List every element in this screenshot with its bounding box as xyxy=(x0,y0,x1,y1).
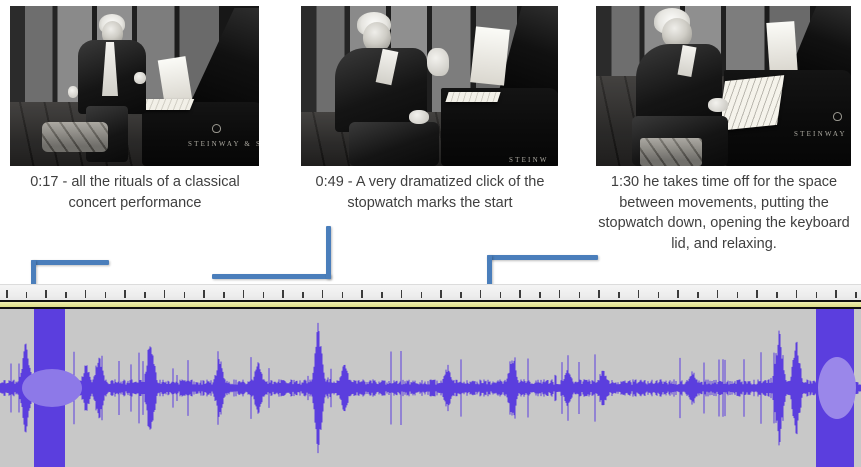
keyframe-1-scene: STEINWAY & SONS xyxy=(10,6,259,166)
ruler-tick xyxy=(598,290,600,298)
ruler-tick xyxy=(638,290,640,298)
audio-waveform-track[interactable] xyxy=(0,284,861,467)
ruler-tick xyxy=(26,292,28,298)
pianist-hand-right xyxy=(134,72,146,84)
waveform-loud-region-end xyxy=(818,357,856,419)
pianist-hand-raised-with-stopwatch xyxy=(427,48,449,76)
connector-0-49-horizontal xyxy=(212,274,331,279)
piano-bench xyxy=(42,122,108,152)
ruler-tick xyxy=(282,290,284,298)
waveform-canvas[interactable] xyxy=(0,309,861,467)
ruler-tick xyxy=(519,290,521,298)
ruler-tick xyxy=(223,292,225,298)
ruler-tick xyxy=(6,290,8,298)
keyframe-thumbnail-1[interactable]: STEINWAY & SONS xyxy=(10,6,259,166)
ruler-tick xyxy=(559,290,561,298)
piano-brand-label: STEINWAY & SONS xyxy=(188,140,259,148)
connector-0-49-vertical xyxy=(326,226,331,279)
music-sheet xyxy=(470,26,510,85)
ruler-tick xyxy=(697,292,699,298)
pianist-hand-lower xyxy=(409,110,429,124)
ruler-tick xyxy=(717,290,719,298)
ruler-tick xyxy=(322,290,324,298)
caption-keyframe-1: 0:17 - all the rituals of a classical co… xyxy=(6,172,264,213)
ruler-tick xyxy=(579,292,581,298)
ruler-tick xyxy=(658,292,660,298)
ruler-tick xyxy=(500,292,502,298)
waveform-loud-region-start xyxy=(22,369,82,407)
ruler-tick xyxy=(203,290,205,298)
ruler-tick xyxy=(618,292,620,298)
ruler-tick xyxy=(401,290,403,298)
ruler-tick xyxy=(302,292,304,298)
pianist-hand-left xyxy=(68,86,78,98)
ruler-tick xyxy=(756,290,758,298)
keyframe-thumbnail-2[interactable]: STEINW xyxy=(301,6,558,166)
ruler-tick xyxy=(480,290,482,298)
pianist-legs xyxy=(349,122,439,166)
ruler-tick xyxy=(105,292,107,298)
ruler-tick xyxy=(381,292,383,298)
steinway-lyre-icon xyxy=(212,124,221,133)
caption-keyframe-3: 1:30 he takes time off for the space bet… xyxy=(590,172,858,254)
ruler-tick xyxy=(164,290,166,298)
ruler-tick xyxy=(85,290,87,298)
ruler-tick xyxy=(835,290,837,298)
ruler-tick xyxy=(539,292,541,298)
ruler-tick xyxy=(342,292,344,298)
ruler-tick xyxy=(144,292,146,298)
ruler-tick xyxy=(263,292,265,298)
ruler-tick xyxy=(460,292,462,298)
ruler-tick xyxy=(243,290,245,298)
ruler-tick xyxy=(361,290,363,298)
piano-keys xyxy=(445,92,500,102)
connector-1-30-horizontal-top xyxy=(487,255,598,260)
keyframe-thumbnail-3[interactable]: STEINWAY xyxy=(596,6,851,166)
ruler-tick xyxy=(184,292,186,298)
ruler-tick xyxy=(124,290,126,298)
ruler-tick xyxy=(440,290,442,298)
piano-bench xyxy=(640,138,702,166)
ruler-tick xyxy=(816,292,818,298)
connector-0-17-horizontal xyxy=(31,260,109,265)
piano-brand-label: STEINW xyxy=(509,156,549,164)
timeline-ruler[interactable] xyxy=(0,284,861,300)
keyframe-2-scene: STEINW xyxy=(301,6,558,166)
keyframe-3-scene: STEINWAY xyxy=(596,6,851,166)
ruler-tick xyxy=(855,292,857,298)
ruler-tick xyxy=(65,292,67,298)
ruler-tick xyxy=(677,290,679,298)
pianist-hand-on-keys xyxy=(708,98,728,112)
ruler-tick xyxy=(796,290,798,298)
ruler-tick xyxy=(421,292,423,298)
ruler-tick xyxy=(45,290,47,298)
ruler-tick xyxy=(737,292,739,298)
music-sheet xyxy=(766,21,797,73)
piano-brand-label: STEINWAY xyxy=(794,130,847,138)
ruler-tick xyxy=(776,292,778,298)
waveform-center-line xyxy=(0,385,861,391)
steinway-lyre-icon xyxy=(833,112,842,121)
piano-body xyxy=(142,102,259,166)
waveform-graphic xyxy=(0,309,861,467)
caption-keyframe-2: 0:49 - A very dramatized click of the st… xyxy=(297,172,563,213)
